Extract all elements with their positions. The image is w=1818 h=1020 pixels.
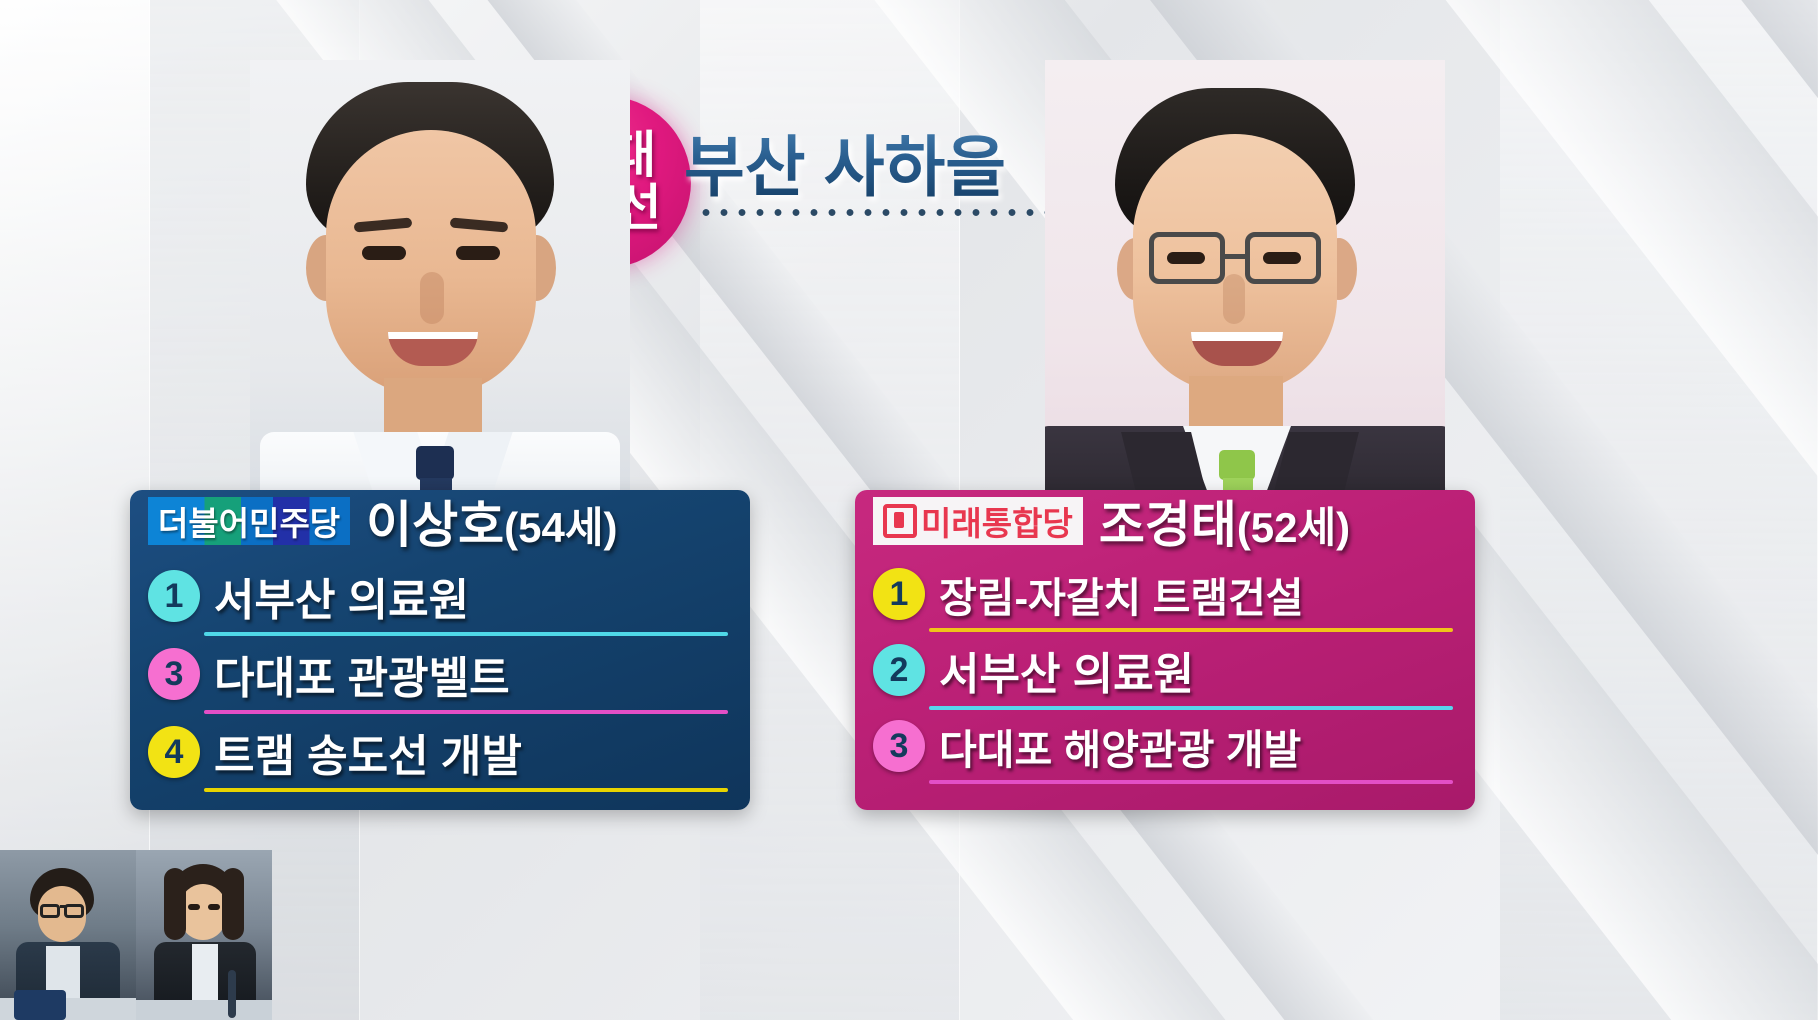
candidate-card-left: 더불어민주당 이상호(54세) 1 서부산 의료원 3 다대포 관광벨트 4 트… [120,40,760,810]
candidate-name-row-left: 더불어민주당 이상호(54세) [130,490,750,552]
party-tag-left: 더불어민주당 [148,497,350,545]
pledge-text: 트램 송도선 개발 [214,720,522,784]
candidate-info-panel-left: 더불어민주당 이상호(54세) 1 서부산 의료원 3 다대포 관광벨트 4 트… [130,490,750,810]
pledge-item: 3 다대포 관광벨트 [148,636,728,714]
webcam-tile[interactable] [0,850,136,1020]
pledge-text: 서부산 의료원 [939,638,1194,702]
pledge-number: 1 [148,570,200,622]
pledge-number: 2 [873,644,925,696]
candidate-age-right: (52세) [1237,504,1350,551]
candidate-info-panel-right: 미래통합당 조경태(52세) 1 장림-자갈치 트램건설 2 서부산 의료원 3… [855,490,1475,810]
candidate-card-right: 미래통합당 조경태(52세) 1 장림-자갈치 트램건설 2 서부산 의료원 3… [845,40,1485,810]
candidate-name-text-right: 조경태 [1099,497,1237,553]
pledge-number: 3 [873,720,925,772]
pledge-number: 3 [148,648,200,700]
pledge-item: 1 장림-자갈치 트램건설 [873,558,1453,632]
pledge-text: 다대포 관광벨트 [214,642,510,706]
pledge-list-right: 1 장림-자갈치 트램건설 2 서부산 의료원 3 다대포 해양관광 개발 [855,552,1475,798]
pledge-text: 다대포 해양관광 개발 [939,716,1301,776]
party-logo-icon [883,504,917,538]
pledge-underline [204,788,728,792]
pledge-number: 4 [148,726,200,778]
pledge-text: 서부산 의료원 [214,564,469,628]
pledge-item: 4 트램 송도선 개발 [148,714,728,792]
pledge-item: 2 서부산 의료원 [873,632,1453,710]
candidate-name-left: 이상호(54세) [366,490,617,557]
pledge-number: 1 [873,568,925,620]
pledge-list-left: 1 서부산 의료원 3 다대포 관광벨트 4 트램 송도선 개발 [130,552,750,806]
webcam-tile[interactable] [136,850,272,1020]
pledge-item: 3 다대포 해양관광 개발 [873,710,1453,784]
pledge-item: 1 서부산 의료원 [148,558,728,636]
webcam-strip [0,850,272,1020]
candidate-age-left: (54세) [504,504,617,551]
party-tag-right-label: 미래통합당 [921,497,1073,545]
candidate-name-text-left: 이상호 [366,497,504,553]
candidate-name-right: 조경태(52세) [1099,490,1350,557]
pledge-text: 장림-자갈치 트램건설 [939,564,1304,624]
candidate-name-row-right: 미래통합당 조경태(52세) [855,490,1475,552]
party-tag-right: 미래통합당 [873,497,1083,545]
pledge-underline [929,780,1453,784]
